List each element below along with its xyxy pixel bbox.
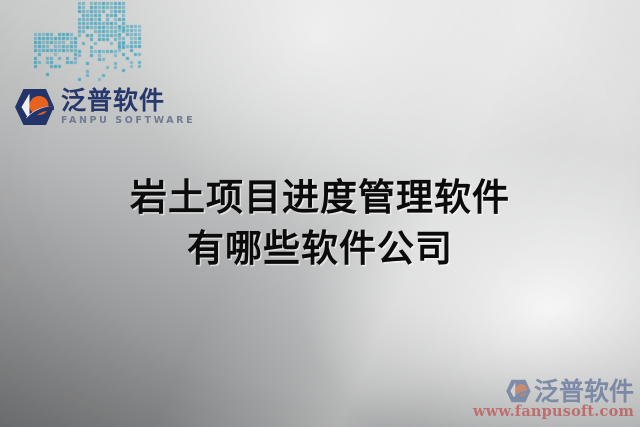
brand-logo: 泛普软件 FANPU SOFTWARE <box>13 88 195 126</box>
watermark-brand-row: 泛普软件 <box>473 379 634 404</box>
fanpu-hexagon-logo-icon <box>13 88 55 126</box>
pixel-buildings-decoration <box>34 0 142 82</box>
watermark: 泛普软件 www.fanpusoft.com <box>473 379 634 420</box>
page-title: 岩土项目进度管理软件 有哪些软件公司 <box>0 172 640 274</box>
watermark-brand-name: 泛普软件 <box>534 379 634 404</box>
watermark-url: www.fanpusoft.com <box>473 405 634 420</box>
brand-logo-wordmark: 泛普软件 FANPU SOFTWARE <box>61 88 195 126</box>
pixel-buildings-canvas <box>34 0 142 82</box>
brand-name-en: FANPU SOFTWARE <box>61 116 195 126</box>
fanpu-watermark-logo-icon <box>505 379 531 403</box>
banner-image: 泛普软件 FANPU SOFTWARE 岩土项目进度管理软件 有哪些软件公司 泛… <box>0 0 640 427</box>
page-title-line-1: 岩土项目进度管理软件 <box>0 172 640 223</box>
brand-name-cn: 泛普软件 <box>61 88 195 113</box>
page-title-line-2: 有哪些软件公司 <box>0 223 640 274</box>
